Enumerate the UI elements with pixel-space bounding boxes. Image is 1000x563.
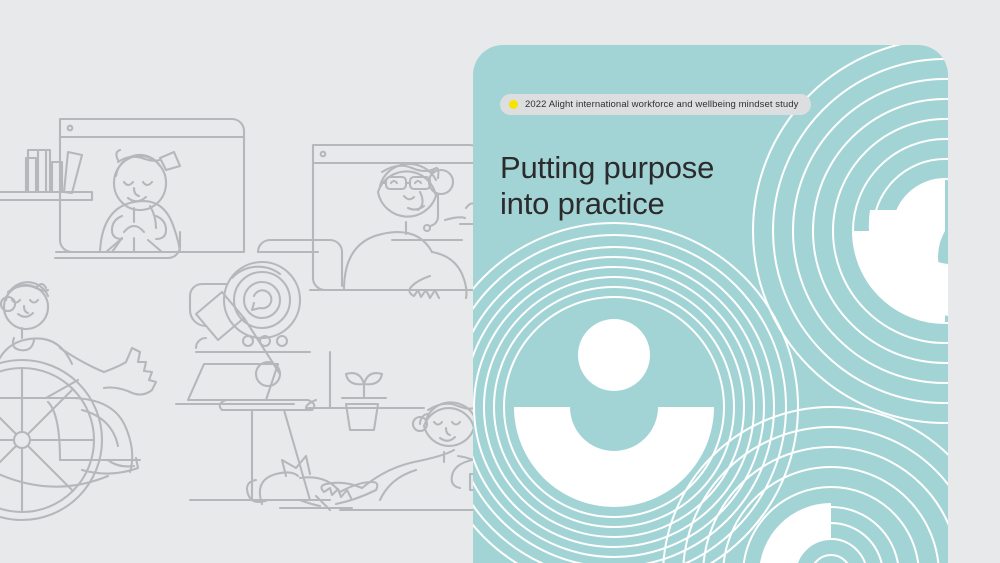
white-quarter-arc-wedge-bottom-right — [759, 503, 831, 563]
person-with-headset — [344, 164, 482, 298]
video-window-top-left — [60, 119, 244, 252]
illustration-panel — [0, 0, 520, 563]
page-title: Putting purpose into practice — [500, 150, 714, 222]
half-disc-bowl — [514, 407, 714, 507]
study-badge-label: 2022 Alight international workforce and … — [525, 99, 799, 110]
study-badge: 2022 Alight international workforce and … — [500, 94, 811, 115]
report-cover-card: 2022 Alight international workforce and … — [473, 45, 948, 563]
badge-dot-icon — [509, 100, 518, 109]
white-quarter-disc-top-right — [869, 210, 948, 316]
white-ring-quarter-top-right — [853, 179, 945, 323]
concentric-arcs-around-bowl — [473, 223, 798, 563]
report-cover-screenshot: 2022 Alight international workforce and … — [0, 0, 1000, 563]
bookshelf — [0, 150, 92, 200]
filled-circle-above-bowl — [578, 319, 650, 391]
workforce-wellbeing-line-art — [0, 0, 520, 563]
potted-plant — [306, 373, 424, 430]
cat — [247, 456, 377, 510]
person-in-wheelchair — [0, 282, 156, 486]
concentric-arcs-bottom-right — [663, 407, 948, 563]
person-meditating — [100, 150, 180, 252]
wheelchair-wheel — [0, 360, 102, 520]
card-decorative-artwork — [473, 45, 948, 563]
